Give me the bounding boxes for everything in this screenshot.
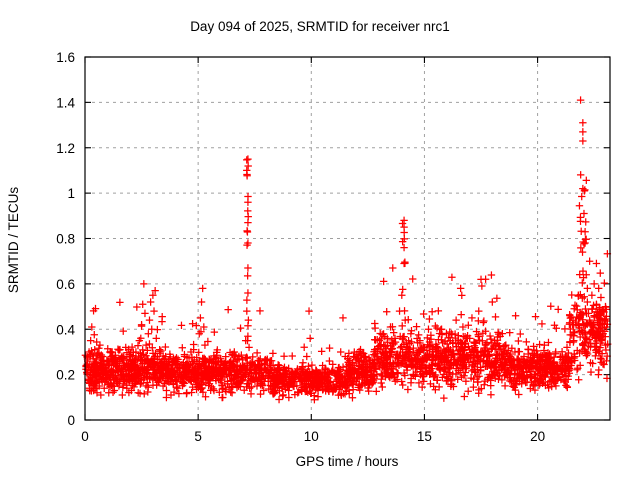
y-tick-label: 0 xyxy=(67,413,75,428)
y-tick-label: 1.4 xyxy=(56,95,75,110)
y-tick-label: 0.8 xyxy=(56,232,75,247)
x-tick-label: 0 xyxy=(81,429,89,444)
srmtid-scatter-plot: Day 094 of 2025, SRMTID for receiver nrc… xyxy=(0,0,640,480)
x-tick-label: 5 xyxy=(194,429,202,444)
x-tick-label: 20 xyxy=(530,429,545,444)
y-axis-label: SRMTID / TECUs xyxy=(6,187,21,294)
y-tick-label: 1.6 xyxy=(56,50,75,65)
x-tick-label: 10 xyxy=(304,429,319,444)
y-tick-label: 0.2 xyxy=(56,368,75,383)
chart-canvas: Day 094 of 2025, SRMTID for receiver nrc… xyxy=(0,0,640,480)
x-axis-label: GPS time / hours xyxy=(296,454,399,469)
y-tick-label: 1.2 xyxy=(56,141,75,156)
y-tick-label: 0.6 xyxy=(56,277,75,292)
plot-background xyxy=(0,0,640,480)
page-title: Day 094 of 2025, SRMTID for receiver nrc… xyxy=(190,19,450,34)
y-tick-label: 0.4 xyxy=(56,322,75,337)
x-tick-label: 15 xyxy=(417,429,432,444)
y-tick-label: 1 xyxy=(67,186,75,201)
